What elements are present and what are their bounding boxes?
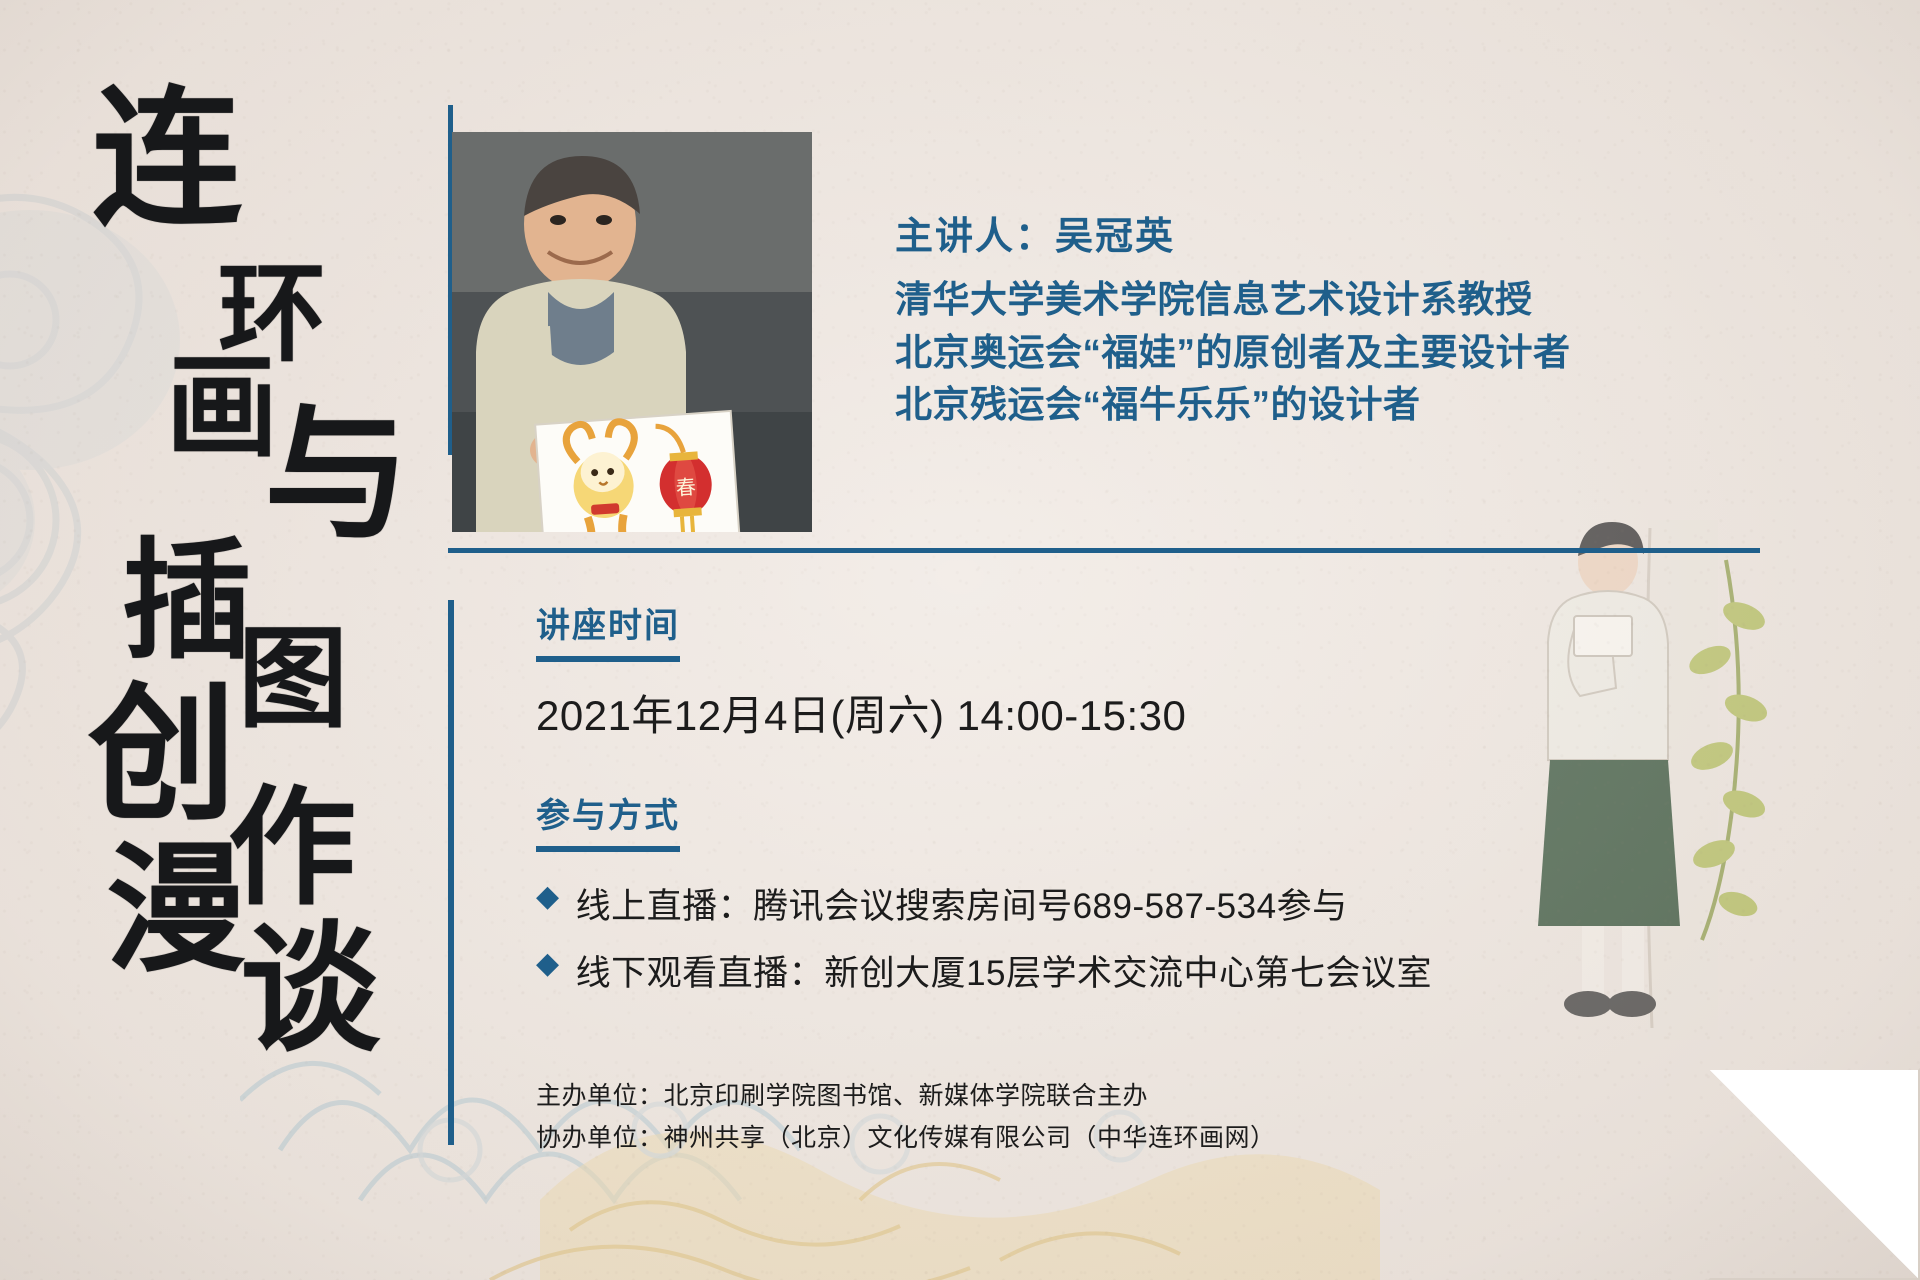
list-item: ◆ 线下观看直播：新创大厦15层学术交流中心第七会议室 bbox=[536, 945, 1432, 996]
speaker-credential-2: 北京奥运会“福娃”的原创者及主要设计者 bbox=[895, 327, 1755, 380]
corner-fold-decoration bbox=[1710, 1070, 1920, 1280]
title-char-9: 漫 bbox=[106, 840, 246, 980]
vertical-rule-bottom bbox=[448, 600, 454, 1145]
lecture-time-section: 讲座时间 2021年12月4日(周六) 14:00-15:30 bbox=[536, 598, 1186, 743]
diamond-bullet-icon: ◆ bbox=[536, 945, 560, 983]
title-char-5: 插 bbox=[122, 536, 252, 666]
title-char-3: 画 bbox=[166, 352, 278, 464]
lecture-time-heading: 讲座时间 bbox=[536, 598, 680, 662]
coorganizer-line: 协办单位：神州共享（北京）文化传媒有限公司（中华连环画网） bbox=[536, 1117, 1276, 1159]
speaker-photo: 春 bbox=[452, 132, 812, 532]
lecture-time-value: 2021年12月4日(周六) 14:00-15:30 bbox=[536, 682, 1186, 743]
participation-heading: 参与方式 bbox=[536, 788, 680, 852]
title-char-6: 图 bbox=[238, 624, 348, 734]
list-item: ◆ 线上直播：腾讯会议搜索房间号689-587-534参与 bbox=[536, 878, 1432, 929]
title-char-10: 谈 bbox=[240, 920, 380, 1060]
title-char-7: 创 bbox=[88, 680, 236, 828]
organizer-line: 主办单位：北京印刷学院图书馆、新媒体学院联合主办 bbox=[536, 1075, 1276, 1117]
poster-canvas: 连 环 画 与 插 图 创 作 漫 谈 bbox=[0, 0, 1920, 1280]
title-char-8: 作 bbox=[228, 784, 356, 912]
participation-section: 参与方式 ◆ 线上直播：腾讯会议搜索房间号689-587-534参与 ◆ 线下观… bbox=[536, 788, 1432, 1012]
reading-woman-illustration bbox=[1530, 520, 1790, 1040]
svg-text:春: 春 bbox=[675, 475, 697, 500]
diamond-bullet-icon: ◆ bbox=[536, 878, 560, 916]
speaker-credential-3: 北京残运会“福牛乐乐”的设计者 bbox=[895, 379, 1755, 432]
horizontal-divider bbox=[448, 548, 1760, 553]
title-char-1: 连 bbox=[92, 84, 242, 234]
participation-online: 线上直播：腾讯会议搜索房间号689-587-534参与 bbox=[576, 878, 1348, 929]
participation-list: ◆ 线上直播：腾讯会议搜索房间号689-587-534参与 ◆ 线下观看直播：新… bbox=[536, 878, 1432, 996]
participation-offline: 线下观看直播：新创大厦15层学术交流中心第七会议室 bbox=[576, 945, 1432, 996]
speaker-credential-1: 清华大学美术学院信息艺术设计系教授 bbox=[895, 274, 1755, 327]
speaker-info: 主讲人：吴冠英 清华大学美术学院信息艺术设计系教授 北京奥运会“福娃”的原创者及… bbox=[895, 205, 1755, 432]
title-char-4: 与 bbox=[264, 402, 410, 548]
speaker-name: 主讲人：吴冠英 bbox=[895, 205, 1755, 260]
organizer-footer: 主办单位：北京印刷学院图书馆、新媒体学院联合主办 协办单位：神州共享（北京）文化… bbox=[536, 1075, 1276, 1159]
poster-title-calligraphy: 连 环 画 与 插 图 创 作 漫 谈 bbox=[78, 84, 388, 974]
